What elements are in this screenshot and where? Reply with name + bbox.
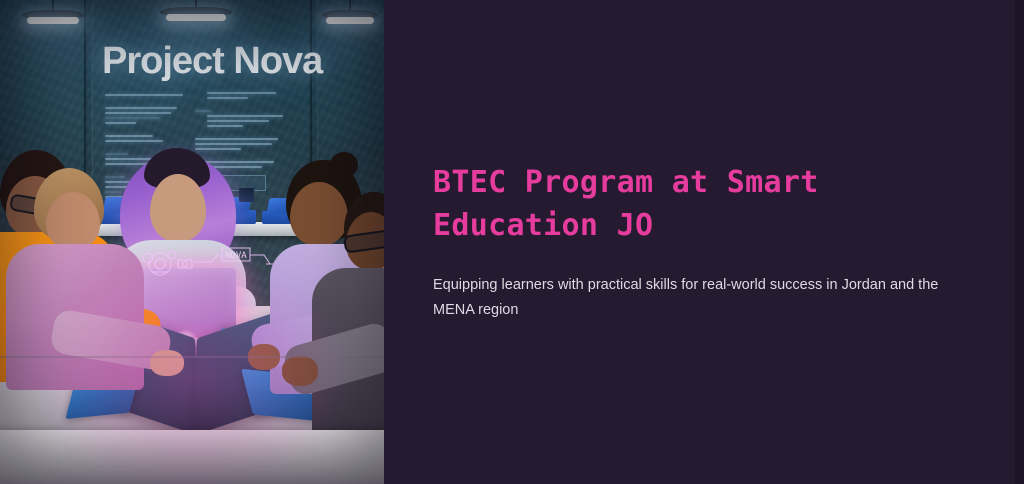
hologram-label: NOVA [225,251,247,261]
content-panel: BTEC Program at Smart Education JO Equip… [384,0,1024,484]
table-front-edge [0,430,384,484]
slide-subtitle: Equipping learners with practical skills… [433,273,965,322]
nova-hologram-icon: NOVA [138,238,280,284]
slide-title: BTEC Program at Smart Education JO [433,162,970,247]
hero-photo: Project Nova [0,0,384,484]
table-seam [0,356,384,358]
project-nova-wall-sign: Project Nova [102,40,322,83]
slide-root: Project Nova [0,0,1024,484]
ceiling-light-icon [322,10,378,26]
right-edge-strip [1015,0,1024,484]
ceiling-light-icon [22,10,84,26]
ceiling-light-icon [160,7,232,23]
